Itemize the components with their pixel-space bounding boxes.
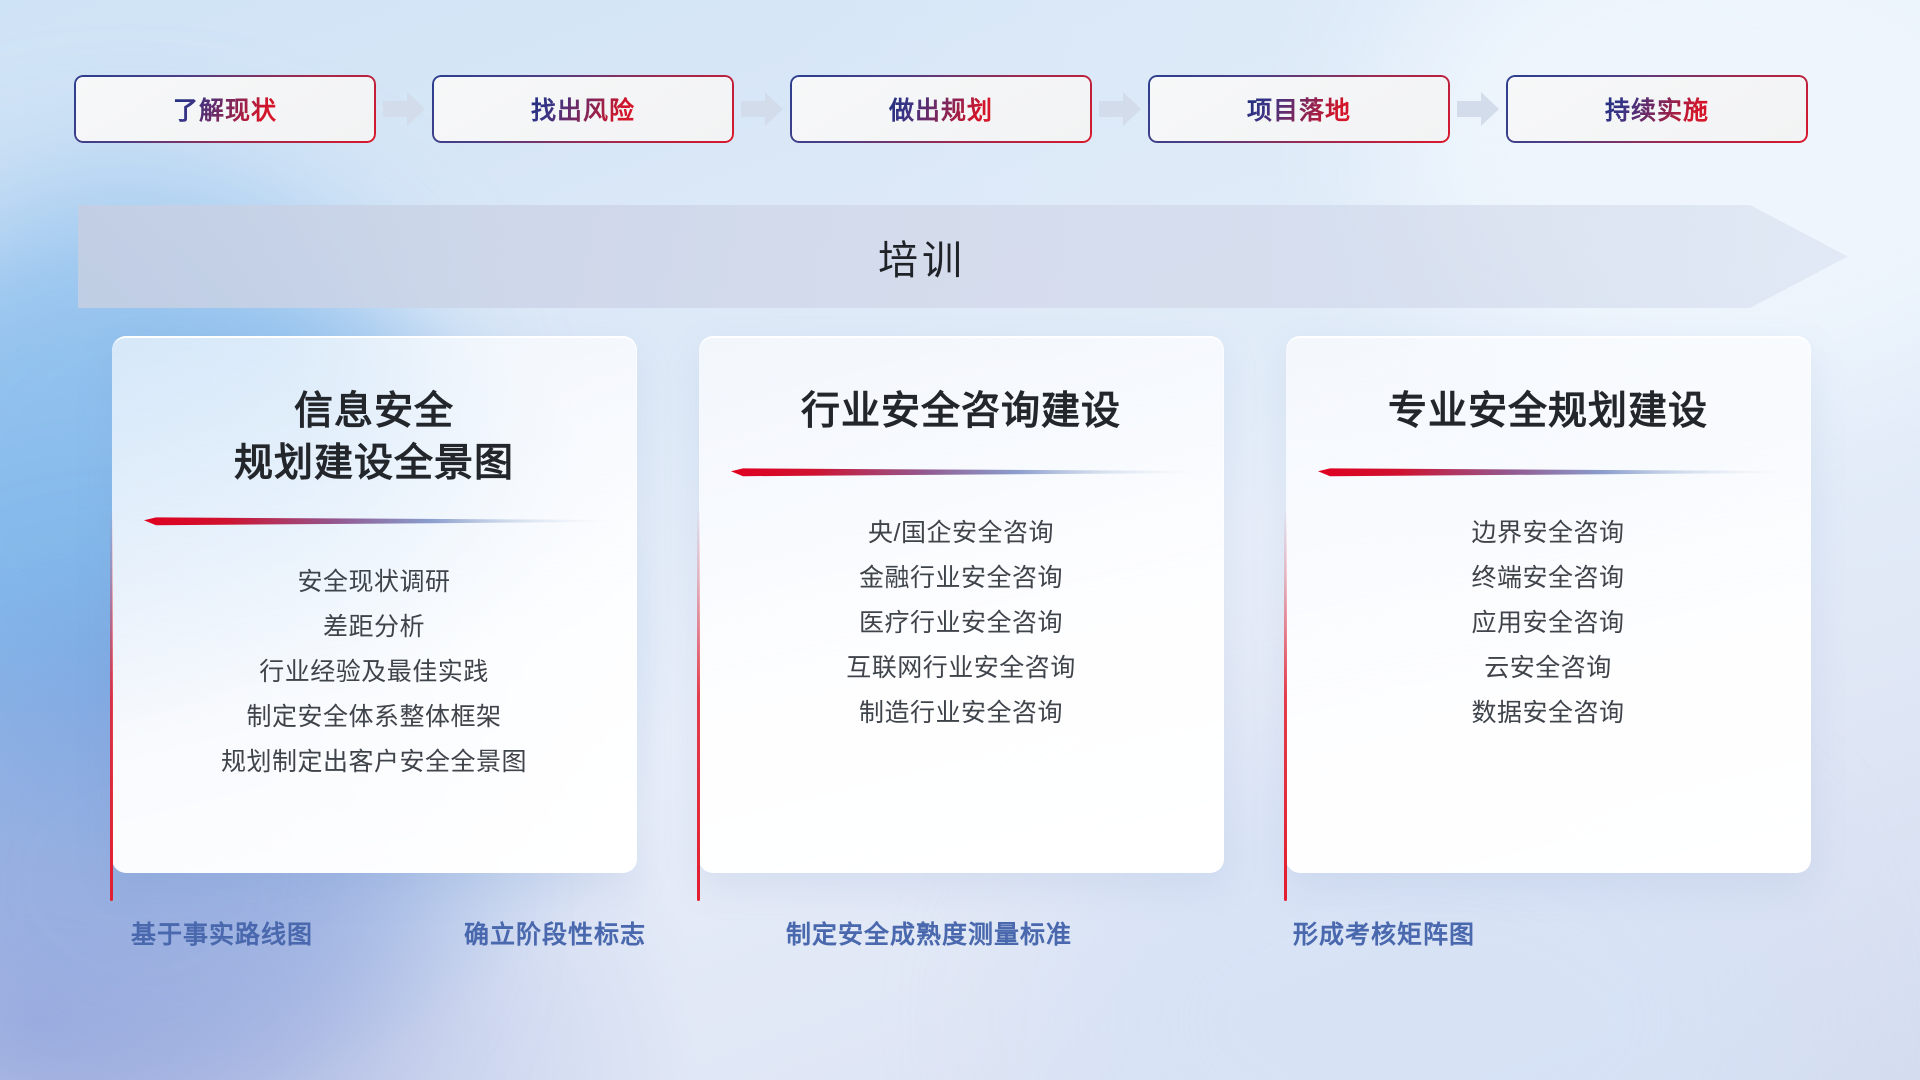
list-item: 互联网行业安全咨询 <box>729 646 1193 691</box>
list-item: 差距分析 <box>142 605 606 650</box>
card-information-security-blueprint[interactable]: 信息安全 规划建设全景图 <box>112 336 637 873</box>
list-item: 制定安全体系整体框架 <box>142 695 606 740</box>
list-item: 应用安全咨询 <box>1316 601 1780 646</box>
step-label: 项目落地 <box>1247 91 1351 127</box>
card-item-list: 安全现状调研 差距分析 行业经验及最佳实践 制定安全体系整体框架 规划制定出客户… <box>142 560 606 785</box>
list-item: 行业经验及最佳实践 <box>142 650 606 695</box>
list-item: 央/国企安全咨询 <box>729 511 1193 556</box>
list-item: 边界安全咨询 <box>1316 511 1780 556</box>
chevron-right-arrow-icon <box>734 89 790 129</box>
list-item: 金融行业安全咨询 <box>729 556 1193 601</box>
caption-assessment-matrix: 形成考核矩阵图 <box>1293 915 1475 951</box>
card-item-list: 边界安全咨询 终端安全咨询 应用安全咨询 云安全咨询 数据安全咨询 <box>1316 511 1780 736</box>
list-item: 规划制定出客户安全全景图 <box>142 740 606 785</box>
card-divider <box>144 517 604 526</box>
caption-milestones: 确立阶段性标志 <box>464 915 646 951</box>
step-box-4[interactable]: 项目落地 <box>1148 75 1450 143</box>
card-professional-security-planning[interactable]: 专业安全规划建设 <box>1286 336 1811 873</box>
card-title-line: 行业安全咨询建设 <box>729 386 1193 438</box>
band-title: 培训 <box>0 228 1848 286</box>
step-box-2[interactable]: 找出风险 <box>432 75 734 143</box>
step-box-5[interactable]: 持续实施 <box>1506 75 1808 143</box>
list-item: 制造行业安全咨询 <box>729 691 1193 736</box>
step-box-3[interactable]: 做出规划 <box>790 75 1092 143</box>
chevron-right-arrow-icon <box>376 89 432 129</box>
card-divider <box>731 468 1191 477</box>
step-label: 了解现状 <box>173 91 277 127</box>
step-box-1[interactable]: 了解现状 <box>74 75 376 143</box>
card-row: 信息安全 规划建设全景图 <box>112 336 1812 876</box>
card-title: 信息安全 规划建设全景图 <box>142 386 606 491</box>
card-title-line: 信息安全 <box>142 386 606 438</box>
step-label: 持续实施 <box>1605 91 1709 127</box>
list-item: 云安全咨询 <box>1316 646 1780 691</box>
card-title-line: 规划建设全景图 <box>142 438 606 490</box>
step-label: 找出风险 <box>531 91 635 127</box>
list-item: 医疗行业安全咨询 <box>729 601 1193 646</box>
card-divider <box>1318 468 1778 477</box>
card-title: 行业安全咨询建设 <box>729 386 1193 438</box>
card-industry-security-consulting[interactable]: 行业安全咨询建设 <box>699 336 1224 873</box>
card-title: 专业安全规划建设 <box>1316 386 1780 438</box>
chevron-right-arrow-icon <box>1450 89 1506 129</box>
card-item-list: 央/国企安全咨询 金融行业安全咨询 医疗行业安全咨询 互联网行业安全咨询 制造行… <box>729 511 1193 736</box>
list-item: 终端安全咨询 <box>1316 556 1780 601</box>
caption-roadmap: 基于事实路线图 <box>131 915 313 951</box>
list-item: 数据安全咨询 <box>1316 691 1780 736</box>
caption-maturity-standard: 制定安全成熟度测量标准 <box>786 915 1072 951</box>
training-band: 培训 <box>78 205 1848 308</box>
slide-canvas: 了解现状 找出风险 做出规划 项目落地 <box>0 0 1920 1080</box>
list-item: 安全现状调研 <box>142 560 606 605</box>
caption-row: 基于事实路线图 确立阶段性标志 制定安全成熟度测量标准 形成考核矩阵图 <box>0 915 1920 959</box>
process-step-row: 了解现状 找出风险 做出规划 项目落地 <box>74 75 1846 143</box>
card-title-line: 专业安全规划建设 <box>1316 386 1780 438</box>
chevron-right-arrow-icon <box>1092 89 1148 129</box>
step-label: 做出规划 <box>889 91 993 127</box>
